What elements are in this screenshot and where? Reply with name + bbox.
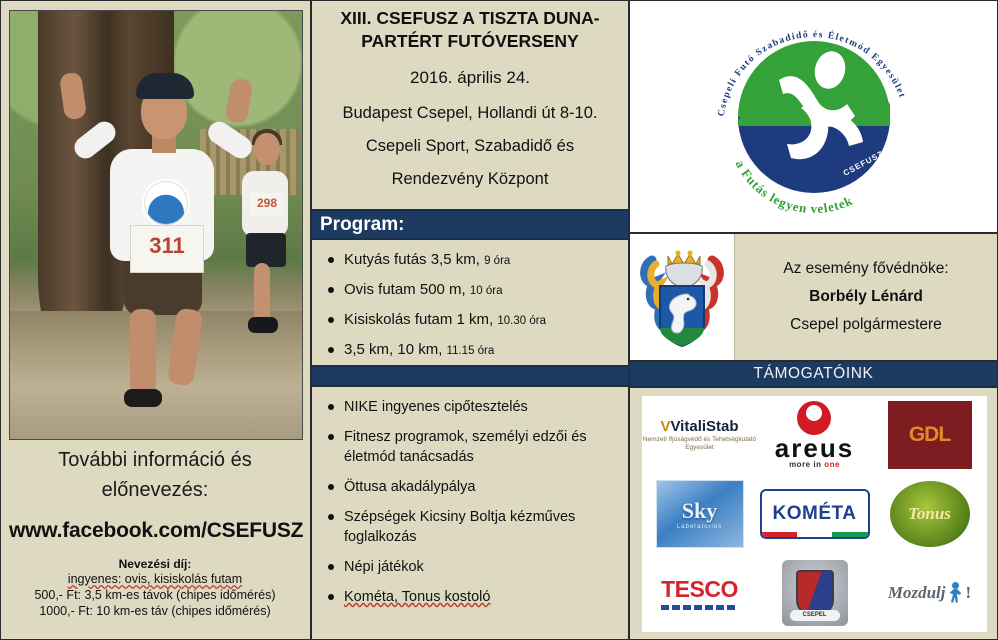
program-item: Ovis futam 500 m, 10 óra (318, 280, 618, 301)
fee-line: 1000,- Ft: 10 km-es táv (chipes időmérés… (9, 603, 301, 619)
sponsor-logo-mozdulj: Mozdulj ! (872, 553, 987, 632)
venue-line-3: Rendezvény Központ (320, 167, 620, 192)
sponsor-logo-vitalistab: VVitaliStab Nemzeti Ifjúságvédő és Tehet… (642, 396, 757, 475)
sponsor-logo-kometa: KOMÉTA (757, 475, 872, 554)
contact-line-1: További információ és (9, 445, 301, 475)
poster-root: 298 311 További információ és előnevezés… (0, 0, 998, 640)
sponsor-logo-gdl: GDL (872, 396, 987, 475)
patron-role: Csepel polgármestere (790, 316, 942, 334)
program-item: 3,5 km, 10 km, 11.15 óra (318, 340, 618, 361)
venue-line-1: Budapest Csepel, Hollandi út 8-10. (320, 101, 620, 126)
patron-text: Az esemény fővédnöke: Borbély Lénárd Cse… (735, 234, 997, 360)
fee-title: Nevezési díj: (9, 557, 301, 571)
event-date: 2016. április 24. (320, 63, 620, 93)
patron-label: Az esemény fővédnöke: (783, 260, 948, 278)
extras-item: Népi játékok (318, 557, 618, 577)
patron-block: Az esemény fővédnöke: Borbély Lénárd Cse… (629, 233, 998, 361)
title-line-2: PARTÉRT FUTÓVERSENY (320, 30, 620, 53)
patron-name: Borbély Lénárd (809, 288, 923, 306)
program-heading-label: Program: (320, 214, 404, 236)
csefusz-badge-icon: Csepeli Futó Szabadidő és Életmód Egyesü… (705, 8, 923, 226)
club-logo: Csepeli Futó Szabadidő és Életmód Egyesü… (629, 0, 998, 233)
csepel-coat-of-arms-icon (630, 234, 735, 360)
program-list: Kutyás futás 3,5 km, 9 óra Ovis futam 50… (311, 239, 629, 366)
sponsor-logo-tesco: TESCO (642, 553, 757, 632)
extras-item: Fitnesz programok, személyi edzői és éle… (318, 427, 618, 467)
sponsor-logo-sky: Sky Laboratories (642, 475, 757, 554)
venue-line-2: Csepeli Sport, Szabadidő és (320, 134, 620, 159)
fee-line: 500,- Ft: 3,5 km-es távok (chipes időmér… (9, 587, 301, 603)
left-column: 298 311 További információ és előnevezés… (0, 0, 311, 640)
race-photo: 298 311 (9, 10, 303, 440)
sponsors-header: TÁMOGATÓINK (629, 361, 998, 387)
runner-bib-number: 311 (130, 225, 204, 273)
title-block: XIII. CSEFUSZ A TISZTA DUNA- PARTÉRT FUT… (311, 0, 629, 210)
extras-list: NIKE ingyenes cipőtesztelés Fitnesz prog… (311, 386, 629, 640)
extras-item: Kométa, Tonus kostoló (318, 587, 618, 607)
program-header: Program: (311, 210, 629, 239)
shirt-logo-icon (142, 179, 190, 227)
program-item: Kisiskolás futam 1 km, 10.30 óra (318, 310, 618, 331)
areus-mark-icon (797, 401, 831, 435)
facebook-url[interactable]: www.facebook.com/CSEFUSZ (9, 519, 301, 543)
sponsor-logo-csepel: CSEPEL (757, 553, 872, 632)
jumping-figure-icon (947, 582, 963, 604)
section-divider (311, 366, 629, 386)
program-item: Kutyás futás 3,5 km, 9 óra (318, 250, 618, 271)
sponsors-block: VVitaliStab Nemzeti Ifjúságvédő és Tehet… (629, 387, 998, 640)
contact-line-2: előnevezés: (9, 475, 301, 505)
contact-block: További információ és előnevezés: www.fa… (9, 445, 301, 633)
sponsors-heading-label: TÁMOGATÓINK (754, 365, 874, 383)
sponsor-logo-tonus: Tonus (872, 475, 987, 554)
extras-item: NIKE ingyenes cipőtesztelés (318, 397, 618, 417)
title-line-1: XIII. CSEFUSZ A TISZTA DUNA- (320, 7, 620, 30)
extras-item: Öttusa akadálypálya (318, 477, 618, 497)
boy-bib-number: 298 (250, 193, 284, 215)
extras-item: Szépségek Kicsiny Boltja kézműves foglal… (318, 507, 618, 547)
fee-line: ingyenes: ovis, kisiskolás futam (9, 571, 301, 587)
sponsor-logo-areus: areus more in one (757, 396, 872, 475)
